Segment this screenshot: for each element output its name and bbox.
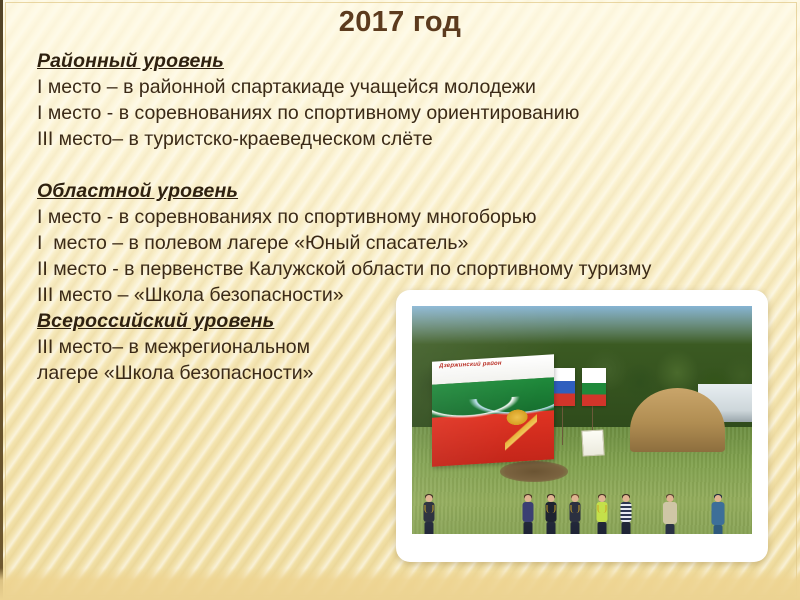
list-spacer — [37, 152, 767, 178]
achievement-item: I место - в соревнованиях по спортивному… — [37, 100, 767, 126]
achievement-item: I место – в полевом лагере «Юный спасате… — [37, 230, 767, 256]
slide-left-edge-stripe — [0, 0, 3, 600]
achievement-item: II место - в первенстве Калужской област… — [37, 256, 767, 282]
section-heading-regional: Областной уровень — [37, 178, 767, 204]
achievement-item: I место - в соревнованиях по спортивному… — [37, 204, 767, 230]
slide: 2017 год Районный уровень I место – в ра… — [0, 0, 800, 600]
slide-bottom-band — [0, 568, 800, 600]
photo-district-flag: Дзержинский район — [432, 355, 554, 467]
section-heading-district: Районный уровень — [37, 48, 767, 74]
photo-regional-pennant — [582, 368, 606, 407]
photo-flag-emblem — [506, 406, 538, 456]
page-title: 2017 год — [0, 6, 800, 39]
achievement-item: I место – в районной спартакиаде учащейс… — [37, 74, 767, 100]
achievement-item: III место– в туристско-краеведческом слё… — [37, 126, 767, 152]
group-photo: Дзержинский район — [412, 306, 752, 534]
photo-card: Дзержинский район — [396, 290, 768, 562]
photo-dirt-patch — [500, 461, 568, 482]
photo-russian-pennant — [551, 368, 575, 407]
photo-certificate — [581, 430, 604, 457]
